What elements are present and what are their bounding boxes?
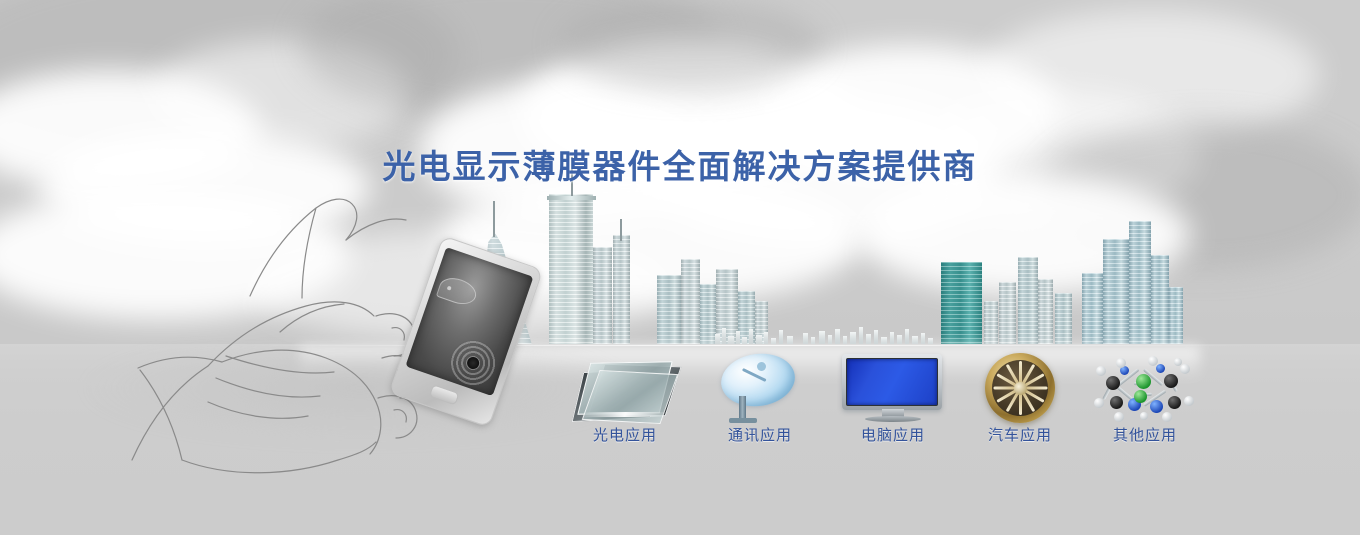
glass-film-panels-icon xyxy=(560,352,690,424)
tower-right-tall xyxy=(1103,239,1129,345)
page-title: 光电显示薄膜器件全面解决方案提供商 xyxy=(0,140,1360,188)
lcd-monitor-icon xyxy=(828,352,958,424)
app-item-optoelectronic[interactable]: 光电应用 xyxy=(560,352,690,445)
tower-main xyxy=(549,194,593,345)
application-icons: 光电应用 通讯应用 电脑应用 xyxy=(0,352,1360,462)
app-label: 通讯应用 xyxy=(695,424,825,445)
app-item-other[interactable]: 其他应用 xyxy=(1080,352,1210,445)
molecule-model-icon xyxy=(1080,352,1210,424)
distant-skyline-strip xyxy=(715,318,965,346)
satellite-dish-icon xyxy=(695,352,825,424)
app-label: 汽车应用 xyxy=(955,424,1085,445)
app-item-communication[interactable]: 通讯应用 xyxy=(695,352,825,445)
app-item-computer[interactable]: 电脑应用 xyxy=(828,352,958,445)
alloy-wheel-icon xyxy=(955,352,1085,424)
app-label: 光电应用 xyxy=(560,424,690,445)
app-label: 其他应用 xyxy=(1080,424,1210,445)
app-item-automotive[interactable]: 汽车应用 xyxy=(955,352,1085,445)
hero-banner: 光电显示薄膜器件全面解决方案提供商 光电应用 通讯应用 xyxy=(0,0,1360,535)
app-label: 电脑应用 xyxy=(828,424,958,445)
